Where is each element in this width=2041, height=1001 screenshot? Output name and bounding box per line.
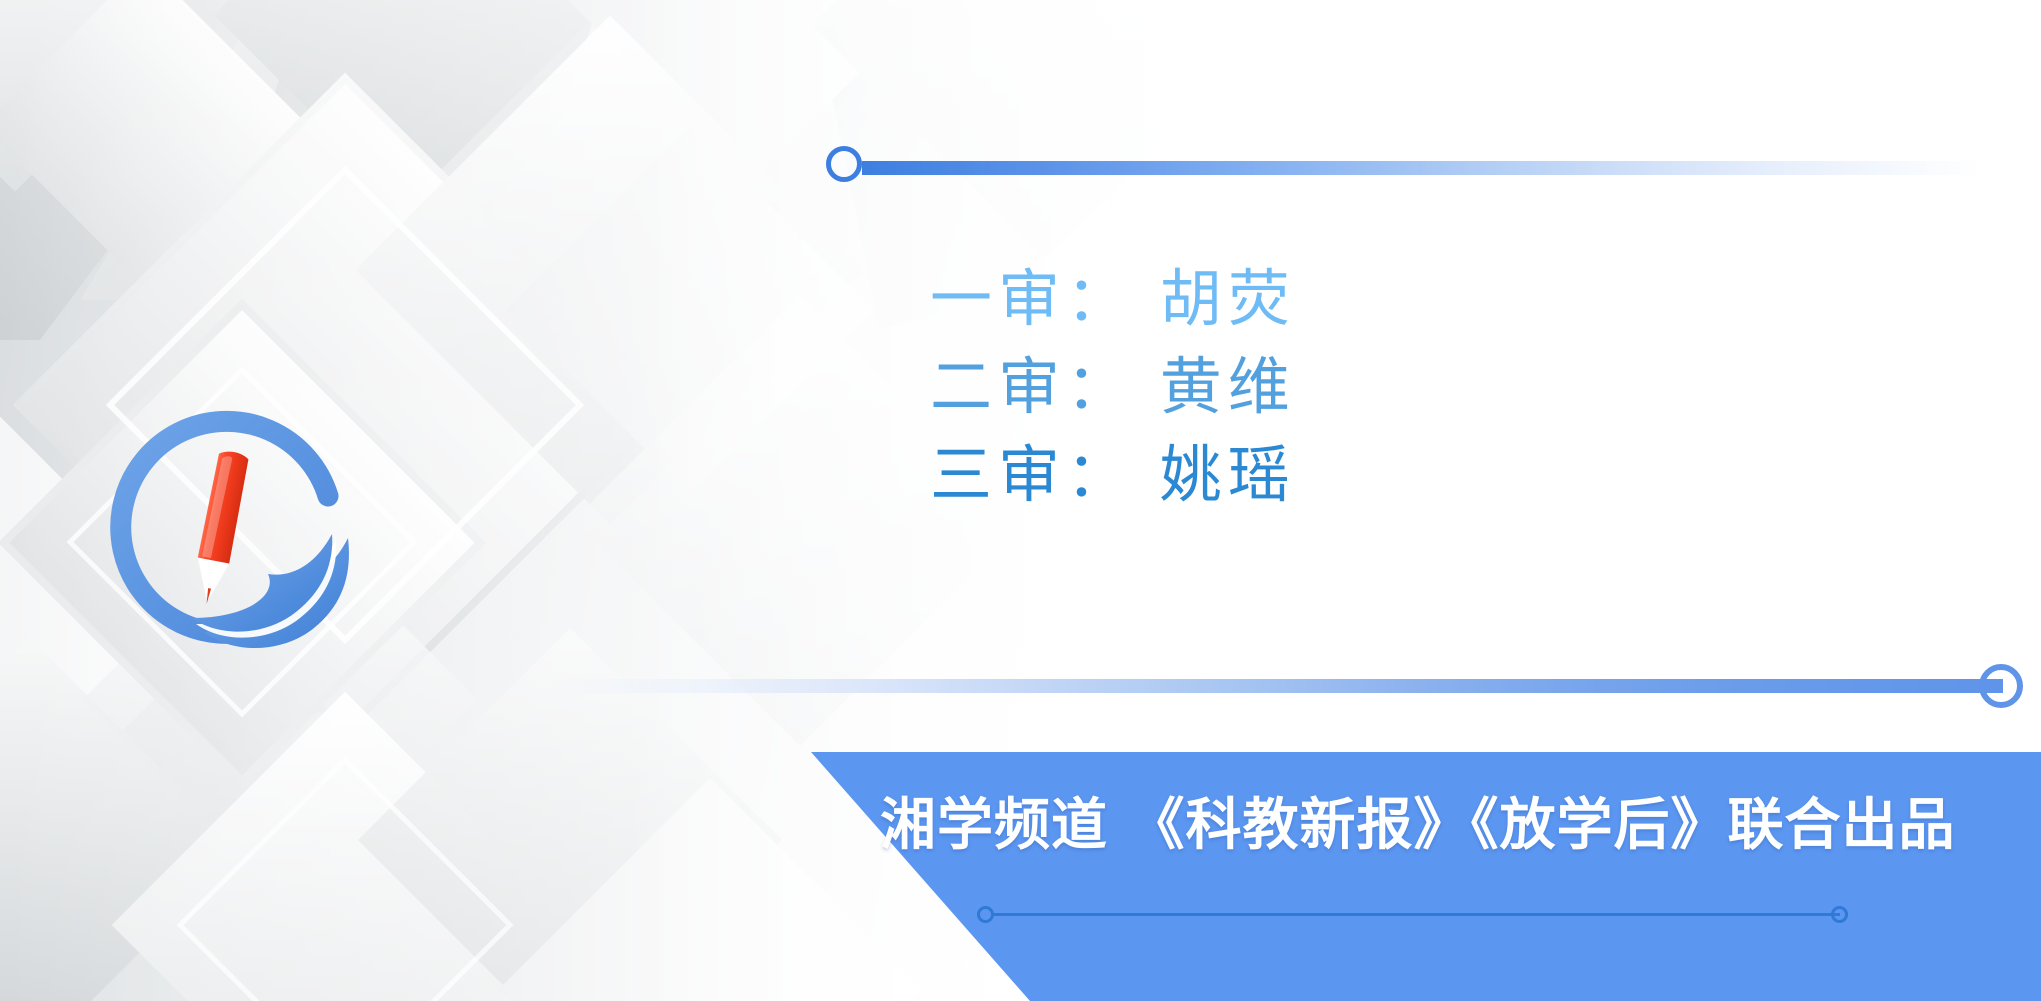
banner-rule-dot-left-icon (977, 906, 994, 923)
decor-line-middle (548, 679, 2003, 693)
poster-canvas: 一审： 胡荧 二审： 黄维 三审： 姚瑶 湘学频道 《科教新报》《放学后》联合出… (0, 0, 2041, 1001)
xiangxue-channel-logo (92, 392, 392, 692)
banner-rule-dot-right-icon (1831, 906, 1848, 923)
credit-line-third-review: 三审： 姚瑶 (930, 431, 1690, 519)
decor-line-top (862, 161, 1980, 175)
decor-circle-top-icon (826, 146, 862, 182)
logo-icon (92, 392, 392, 692)
decor-circle-right-icon (1979, 664, 2023, 708)
credit-line-second-review: 二审： 黄维 (930, 343, 1690, 431)
banner-title: 湘学频道 《科教新报》《放学后》联合出品 (880, 760, 2010, 880)
credit-line-first-review: 一审： 胡荧 (930, 255, 1690, 343)
review-credits: 一审： 胡荧 二审： 黄维 三审： 姚瑶 (930, 255, 1690, 519)
banner-rule-line (992, 913, 1840, 916)
